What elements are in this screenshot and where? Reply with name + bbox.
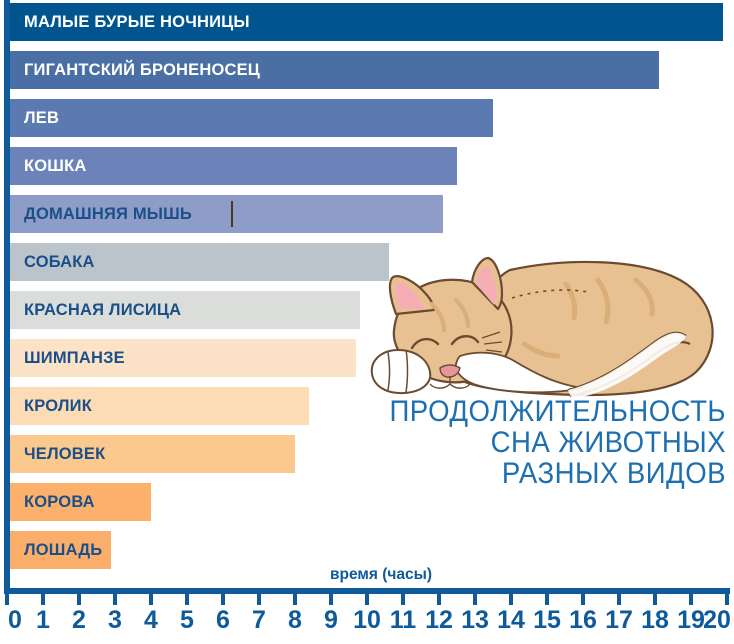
x-axis-tick-label: 17 (605, 606, 633, 635)
x-axis-tick (41, 594, 45, 605)
bar-label: КОШКА (24, 147, 86, 185)
x-axis-tick-label: 1 (36, 606, 50, 635)
bar-row[interactable]: ДОМАШНЯЯ МЫШЬ (0, 195, 734, 243)
x-axis-tick-label: 9 (324, 606, 338, 635)
x-axis-tick (617, 594, 621, 605)
bar-row[interactable]: КОШКА (0, 147, 734, 195)
x-axis-tick (185, 594, 189, 605)
bar-label: КОРОВА (24, 483, 95, 521)
bar-row[interactable]: СОБАКА (0, 243, 734, 291)
x-axis-tick-label: 18 (641, 606, 669, 635)
x-axis-tick (149, 594, 153, 605)
x-axis-tick (293, 594, 297, 605)
x-axis-tick (329, 594, 333, 605)
x-axis-tick-label: 5 (180, 606, 194, 635)
x-axis-tick (689, 594, 693, 605)
plot-area: МАЛЫЕ БУРЫЕ НОЧНИЦЫГИГАНТСКИЙ БРОНЕНОСЕЦ… (0, 0, 734, 590)
bar-label: ЛОШАДЬ (24, 531, 102, 569)
x-axis-tick (437, 594, 441, 605)
y-axis-line (4, 0, 10, 588)
x-axis-tick-label: 19 (677, 606, 705, 635)
title-line-3: РАЗНЫХ ВИДОВ (358, 458, 726, 489)
x-axis-tick-label: 7 (252, 606, 266, 635)
x-axis-tick-label: 2 (72, 606, 86, 635)
x-axis-tick (653, 594, 657, 605)
x-axis-tick-label: 14 (497, 606, 525, 635)
x-axis-title: время (часы) (330, 566, 432, 584)
x-axis-tick-label: 0 (8, 606, 22, 635)
bar-label: КРОЛИК (24, 387, 92, 425)
x-axis-tick (365, 594, 369, 605)
bar-label: ЧЕЛОВЕК (24, 435, 105, 473)
bar-row[interactable]: МАЛЫЕ БУРЫЕ НОЧНИЦЫ (0, 3, 734, 51)
x-axis-tick-label: 4 (144, 606, 158, 635)
bar-label: СОБАКА (24, 243, 95, 281)
bar-label: ШИМПАНЗЕ (24, 339, 125, 377)
x-axis-tick-label: 16 (569, 606, 597, 635)
x-axis-tick-label: 12 (425, 606, 453, 635)
x-axis-tick-label: 10 (353, 606, 381, 635)
bar-series: МАЛЫЕ БУРЫЕ НОЧНИЦЫГИГАНТСКИЙ БРОНЕНОСЕЦ… (0, 3, 734, 579)
bar-label: МАЛЫЕ БУРЫЕ НОЧНИЦЫ (24, 3, 250, 41)
bar-label: КРАСНАЯ ЛИСИЦА (24, 291, 181, 329)
bar-row[interactable]: ШИМПАНЗЕ (0, 339, 734, 387)
x-axis-tick (221, 594, 225, 605)
x-axis-tick-label: 11 (390, 606, 416, 635)
bar-row[interactable]: ГИГАНТСКИЙ БРОНЕНОСЕЦ (0, 51, 734, 99)
bar-row[interactable]: КРАСНАЯ ЛИСИЦА (0, 291, 734, 339)
page-title: ПРОДОЛЖИТЕЛЬНОСТЬ СНА ЖИВОТНЫХ РАЗНЫХ ВИ… (358, 396, 726, 489)
bar-label: ДОМАШНЯЯ МЫШЬ (24, 195, 192, 233)
bar[interactable] (4, 99, 493, 137)
bar-row[interactable]: КОРОВА (0, 483, 734, 531)
x-axis-tick (77, 594, 81, 605)
x-axis-tick (545, 594, 549, 605)
x-axis-tick-label: 3 (108, 606, 122, 635)
bar-label: ЛЕВ (24, 99, 59, 137)
bar-row[interactable]: ЛЕВ (0, 99, 734, 147)
x-axis-tick (401, 594, 405, 605)
sleep-duration-infographic: МАЛЫЕ БУРЫЕ НОЧНИЦЫГИГАНТСКИЙ БРОНЕНОСЕЦ… (0, 0, 734, 644)
title-line-2: СНА ЖИВОТНЫХ (358, 427, 726, 458)
bar-label: ГИГАНТСКИЙ БРОНЕНОСЕЦ (24, 51, 260, 89)
x-axis-tick (581, 594, 585, 605)
x-axis-tick-label: 15 (533, 606, 561, 635)
x-axis-tick (473, 594, 477, 605)
text-cursor (231, 201, 233, 227)
x-axis-tick (725, 594, 729, 605)
x-axis-tick-label: 20 (703, 606, 731, 635)
x-axis-tick (257, 594, 261, 605)
x-axis-tick (113, 594, 117, 605)
x-axis-tick (509, 594, 513, 605)
x-axis-tick (5, 594, 9, 605)
x-axis-tick-label: 6 (216, 606, 230, 635)
title-line-1: ПРОДОЛЖИТЕЛЬНОСТЬ (358, 396, 726, 427)
x-axis: 01234567891011121314151617181920 (0, 588, 734, 644)
x-axis-tick-label: 8 (288, 606, 302, 635)
x-axis-tick-label: 13 (461, 606, 489, 635)
